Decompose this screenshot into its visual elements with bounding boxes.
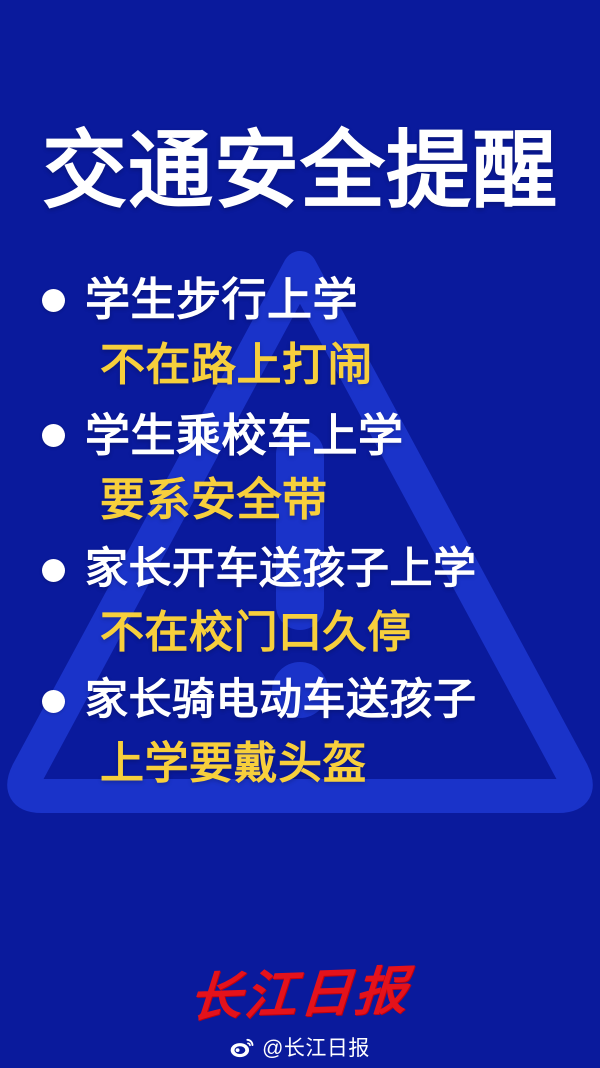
bullet-icon (42, 690, 65, 713)
list-item-advice: 不在路上打闹 (0, 333, 600, 398)
list-item-advice: 上学要戴头盔 (0, 732, 600, 795)
list-item-headline-row: 家长骑电动车送孩子 (0, 670, 600, 732)
list-item-headline: 家长骑电动车送孩子 (85, 670, 477, 732)
list-item: 家长开车送孩子上学 不在校门口久停 (0, 539, 600, 664)
bullet-icon (42, 424, 65, 447)
list-item-advice: 不在校门口久停 (0, 601, 600, 664)
list-item: 学生步行上学 不在路上打闹 (0, 268, 600, 398)
bullet-icon (42, 559, 65, 582)
publisher-logo-text: 长江日报 (187, 948, 413, 1031)
social-handle-text: @长江日报 (262, 1032, 370, 1062)
list-item-advice: 要系安全带 (0, 468, 600, 533)
poster-root: 交通安全提醒 学生步行上学 不在路上打闹 学生乘校车上学 要系安全带 家长开车送… (0, 0, 600, 1068)
list-item-headline-row: 学生步行上学 (0, 268, 600, 333)
list-item-headline-row: 家长开车送孩子上学 (0, 539, 600, 601)
social-handle[interactable]: @长江日报 (0, 1032, 600, 1062)
bullet-icon (42, 289, 65, 312)
list-item-headline: 家长开车送孩子上学 (85, 539, 477, 601)
list-item: 家长骑电动车送孩子 上学要戴头盔 (0, 670, 600, 795)
publisher-logo: 长江日报 (0, 952, 600, 1027)
list-item-headline-row: 学生乘校车上学 (0, 404, 600, 469)
list-item-headline: 学生步行上学 (85, 268, 358, 333)
list-item-headline: 学生乘校车上学 (85, 404, 404, 469)
safety-tips-list: 学生步行上学 不在路上打闹 学生乘校车上学 要系安全带 家长开车送孩子上学 不在… (0, 268, 600, 802)
weibo-icon (230, 1037, 255, 1058)
list-item: 学生乘校车上学 要系安全带 (0, 404, 600, 534)
page-title: 交通安全提醒 (0, 128, 600, 216)
